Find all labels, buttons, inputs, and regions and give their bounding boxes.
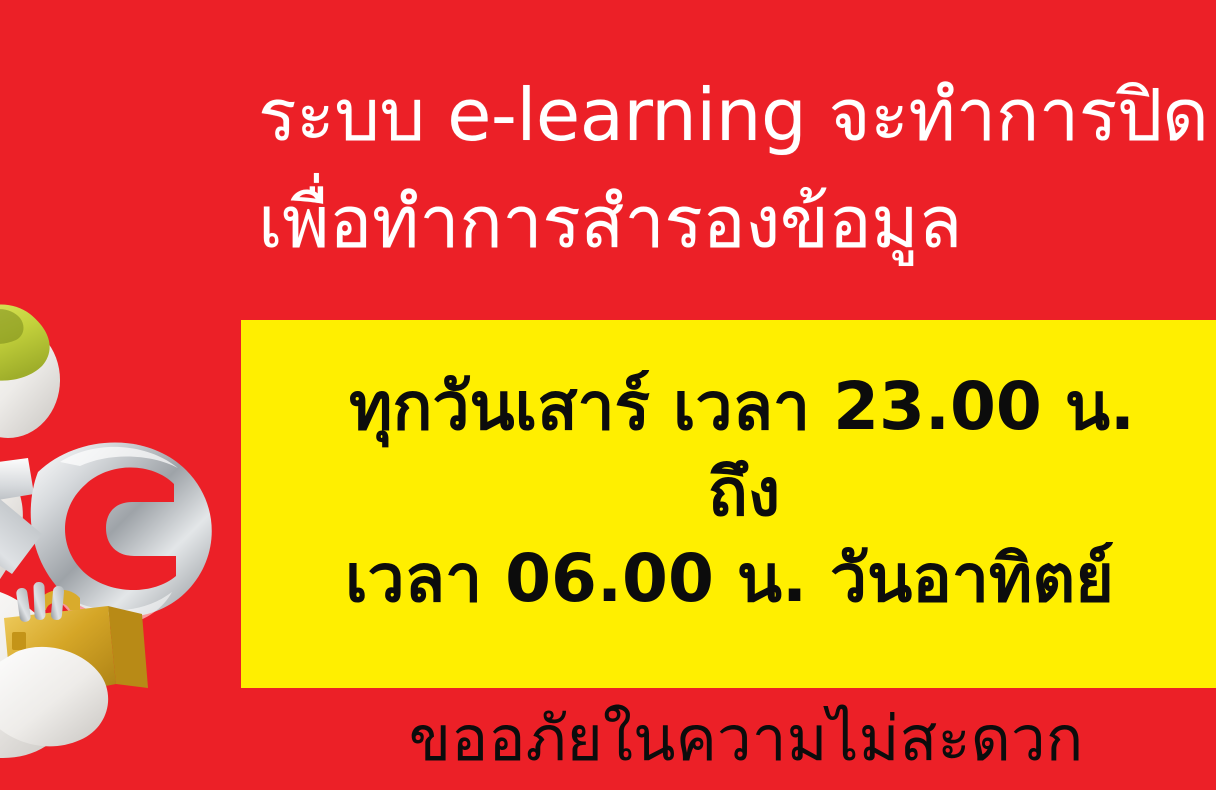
toolbox-icon bbox=[4, 582, 148, 704]
headline-line-2: เพื่อทำการสำรองข้อมูล bbox=[258, 169, 1216, 276]
wrench-icon bbox=[0, 442, 212, 626]
hard-hat-icon bbox=[0, 304, 50, 380]
service-sign bbox=[0, 458, 34, 514]
schedule-start-time: ทุกวันเสาร์ เวลา 23.00 น. bbox=[241, 364, 1216, 450]
mascot-hand bbox=[0, 647, 108, 746]
schedule-text-block: ทุกวันเสาร์ เวลา 23.00 น. ถึง เวลา 06.00… bbox=[241, 364, 1216, 621]
schedule-panel: ทุกวันเสาร์ เวลา 23.00 น. ถึง เวลา 06.00… bbox=[241, 320, 1216, 688]
schedule-end-time: เวลา 06.00 น. วันอาทิตย์ bbox=[241, 536, 1216, 622]
schedule-separator: ถึง bbox=[241, 450, 1139, 536]
service-mascot-illustration bbox=[0, 288, 242, 788]
mascot-body bbox=[0, 322, 75, 758]
apology-text: ขออภัยในความไม่สะดวก bbox=[241, 700, 1216, 778]
headline-line-1: ระบบ e-learning จะทำการปิด bbox=[258, 62, 1216, 169]
headline-block: ระบบ e-learning จะทำการปิด เพื่อทำการสำร… bbox=[258, 62, 1216, 275]
maintenance-notice-banner: ระบบ e-learning จะทำการปิด เพื่อทำการสำร… bbox=[0, 0, 1216, 790]
